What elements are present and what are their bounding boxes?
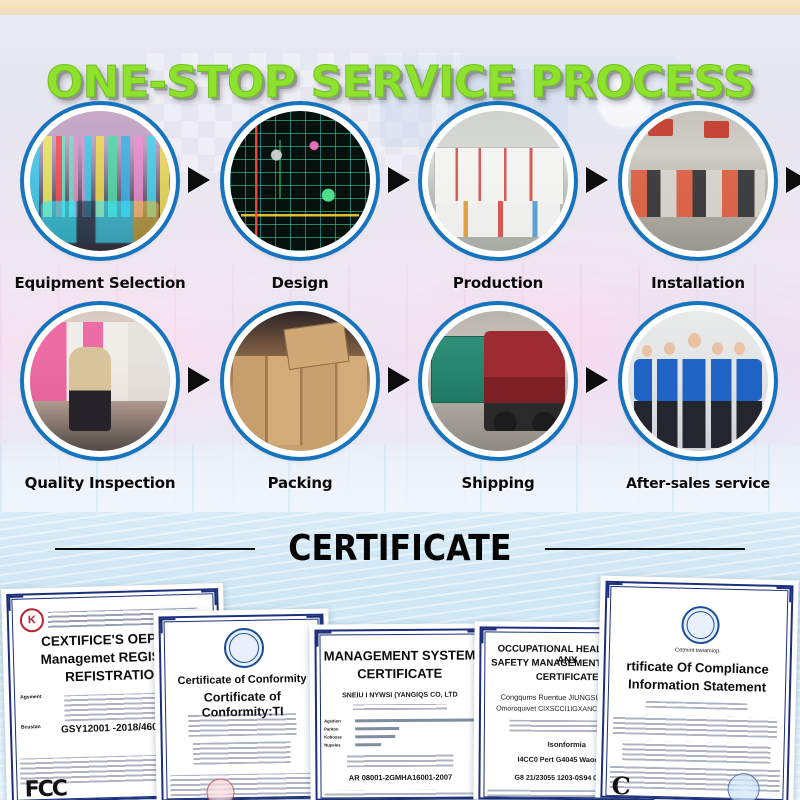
step-circle — [622, 105, 774, 257]
step-circle — [224, 105, 376, 257]
step-label: Design — [205, 274, 395, 292]
process-step-quality-inspection[interactable]: Quality Inspection — [5, 305, 195, 500]
step-image-production — [428, 111, 568, 251]
step-label: Equipment Selection — [5, 274, 195, 292]
certificate-company-subtext — [338, 704, 462, 711]
k-circle-logo: K — [20, 608, 45, 633]
certificate-section: CERTIFICATE K CEXTIFICE'S OEPIEAT Manage… — [0, 512, 800, 800]
field-label: Pariton — [324, 726, 350, 731]
step-circle — [422, 305, 574, 457]
process-step-installation[interactable]: Installation — [603, 105, 793, 300]
rah-circle-logo-icon — [681, 606, 720, 645]
title-rule-left — [55, 548, 255, 550]
step-label: Installation — [603, 274, 793, 292]
step-image-design — [230, 111, 370, 251]
step-image-installation — [628, 111, 768, 251]
step-label: Packing — [205, 474, 395, 492]
certificate-field-rows: Agsition Pariton Kobosse Nupeles — [324, 717, 476, 750]
field-label: Kobosse — [324, 734, 350, 739]
certificate-section-title: CERTIFICATE — [288, 531, 511, 567]
certificate-body-text — [170, 773, 316, 800]
process-step-equipment-selection[interactable]: Equipment Selection — [5, 105, 195, 300]
title-rule-right — [545, 548, 745, 550]
certificate-field-label-2: Bcustan — [21, 724, 41, 731]
gb-circle-seal-icon — [223, 628, 264, 669]
process-step-after-sales-service[interactable]: After-sales service — [603, 305, 793, 500]
step-label: Quality Inspection — [5, 474, 195, 492]
step-label: Production — [403, 274, 593, 292]
field-label: Nupeles — [324, 742, 350, 747]
certificate-company-name: SNEIU I NYWSI (YANGIQS CO, LTD — [322, 691, 478, 700]
process-step-design[interactable]: Design — [205, 105, 395, 300]
certificate-overline: Cetmirit tiwiamiop. — [611, 646, 785, 656]
certificate-title-line-1: MANAGEMENT SYSTEM — [322, 647, 478, 663]
process-step-packing[interactable]: Packing — [205, 305, 395, 500]
certificate-field-label-1: Agsment — [20, 694, 42, 701]
top-accent-strip — [0, 0, 800, 15]
step-circle — [224, 305, 376, 457]
step-image-equipment-selection — [30, 111, 170, 251]
certificate-gallery: K CEXTIFICE'S OEPIEAT Managemet REGISTAR… — [0, 578, 800, 800]
certificate-title-row: CERTIFICATE — [0, 526, 800, 572]
step-circle — [24, 305, 176, 457]
step-circle — [24, 105, 176, 257]
certificate-card[interactable]: Cetmirit tiwiamiop. rtificate Of Complia… — [595, 576, 798, 800]
process-step-shipping[interactable]: Shipping — [403, 305, 593, 500]
step-image-after-sales-service — [628, 311, 768, 451]
field-label: Agsition — [324, 718, 350, 723]
certificate-card[interactable]: MANAGEMENT SYSTEM CERTIFICATE SNEIU I NY… — [309, 623, 490, 800]
ce-mark-icon: C — [611, 771, 631, 800]
page-title: ONE-STOP SERVICE PROCESS — [0, 61, 800, 105]
fcc-mark-icon: FCC — [24, 776, 66, 800]
process-step-production[interactable]: Production — [403, 105, 593, 300]
step-image-quality-inspection — [30, 311, 170, 451]
one-stop-service-process-section: ONE-STOP SERVICE PROCESS Equipment Selec… — [0, 15, 800, 512]
certificate-title-line-2: Information Statement — [610, 676, 784, 695]
certificate-detail-text — [613, 714, 777, 738]
certificate-title-line-2: CERTIFICATE — [322, 665, 478, 681]
process-row-1: Equipment Selection Design Product — [0, 105, 800, 300]
step-image-packing — [230, 311, 370, 451]
process-row-2: Quality Inspection Packing Shippin — [0, 305, 800, 500]
certificate-subtitle-text — [171, 713, 313, 737]
certificate-body-text — [330, 754, 470, 768]
certificate-address-text — [622, 740, 770, 764]
certificate-card[interactable]: Certificate of Conformity Cortificate of… — [153, 608, 331, 800]
process-arrow-icon — [786, 167, 800, 193]
certificate-title-line-1: Certificate of Conformity — [166, 673, 317, 688]
step-image-shipping — [428, 311, 568, 451]
certificate-title-line-1: rtificate Of Compliance — [610, 658, 784, 677]
certificate-company-text — [630, 700, 764, 710]
step-circle — [422, 105, 574, 257]
step-label: After-sales service — [603, 476, 793, 492]
certificate-footer-text — [325, 789, 477, 800]
certificate-detail-text — [178, 741, 306, 765]
page-root: ONE-STOP SERVICE PROCESS Equipment Selec… — [0, 0, 800, 800]
step-label: Shipping — [403, 474, 593, 492]
certificate-code: AR 08001-2GMHA16001-2007 — [322, 772, 478, 782]
step-circle — [622, 305, 774, 457]
